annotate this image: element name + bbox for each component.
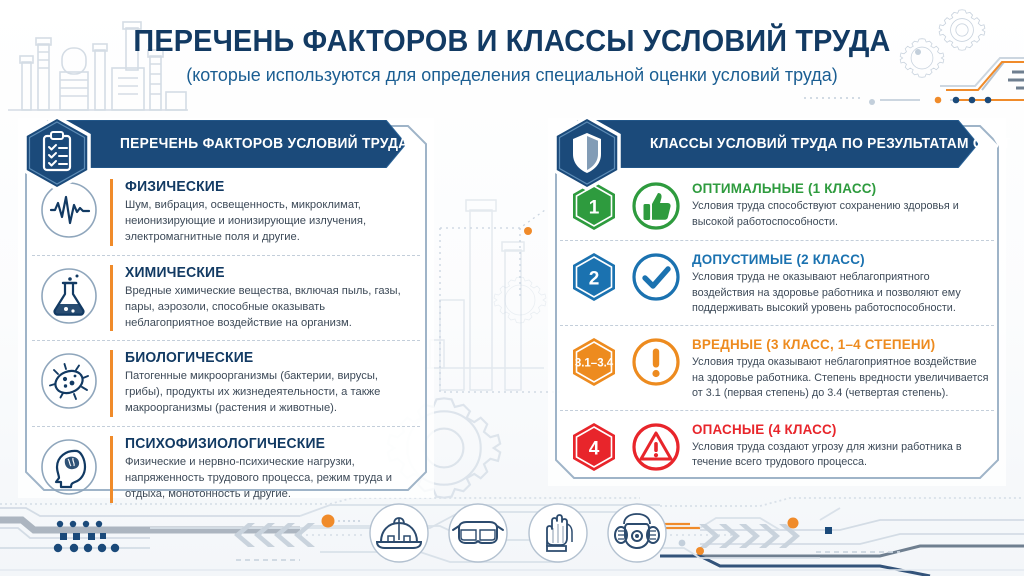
class-row-harmful[interactable]: 3.1–3.4 ВРЕДНЫЕ (3 КЛАСС, 1–4 СТЕПЕНИ) У… (560, 325, 994, 410)
head-brain-icon (40, 438, 98, 496)
bottom-left-dots-row (54, 521, 119, 552)
class-hexagon-3: 3.1–3.4 (568, 336, 620, 388)
class-title: ОПАСНЫЕ (4 КЛАСС) (692, 421, 978, 437)
factor-body: ХИМИЧЕСКИЕ Вредные химические вещества, … (110, 265, 416, 332)
flask-icon (40, 267, 98, 325)
class-body: ДОПУСТИМЫЕ (2 КЛАСС) Условия труда не ок… (692, 249, 990, 317)
class-body: ОПТИМАЛЬНЫЕ (1 КЛАСС) Условия труда спос… (692, 178, 990, 230)
class-description: Условия труда создают угрозу для жизни р… (692, 440, 990, 471)
orange-node-dot (524, 227, 532, 235)
small-gear-watermark (494, 277, 546, 323)
exclamation-circle-icon (630, 336, 682, 388)
protective-gloves-icon (527, 502, 589, 564)
factor-body: БИОЛОГИЧЕСКИЕ Патогенные микроорганизмы … (110, 350, 416, 417)
thumbs-up-icon (630, 180, 682, 232)
factor-description: Шум, вибрация, освещенность, микроклимат… (125, 198, 416, 246)
class-title: ДОПУСТИМЫЕ (2 КЛАСС) (692, 251, 978, 267)
factor-title: БИОЛОГИЧЕСКИЕ (125, 350, 404, 366)
bottom-circuit-right (660, 498, 1024, 576)
page-title-block: ПЕРЕЧЕНЬ ФАКТОРОВ И КЛАССЫ УСЛОВИЙ ТРУДА… (0, 24, 1024, 86)
factor-row-psychophysiological[interactable]: ПСИХОФИЗИОЛОГИЧЕСКИЕ Физические и нервно… (32, 426, 420, 512)
class-title: ОПТИМАЛЬНЫЕ (1 КЛАСС) (692, 180, 978, 196)
classes-panel: КЛАССЫ УСЛОВИЙ ТРУДА ПО РЕЗУЛЬТАТАМ СОУТ… (548, 118, 1006, 486)
classes-banner: КЛАССЫ УСЛОВИЙ ТРУДА ПО РЕЗУЛЬТАТАМ СОУТ (564, 120, 978, 168)
hard-hat-icon (368, 502, 430, 564)
class-hexagon-label: 2 (589, 269, 600, 290)
factors-panel: ПЕРЕЧЕНЬ ФАКТОРОВ УСЛОВИЙ ТРУДА ФИЗИЧЕСК… (18, 118, 434, 498)
classes-banner-label: КЛАССЫ УСЛОВИЙ ТРУДА ПО РЕЗУЛЬТАТАМ СОУТ (650, 120, 1011, 168)
classes-list: 1 ОПТИМАЛЬНЫЕ (1 КЛАСС) Условия труда сп… (548, 170, 1006, 481)
class-body: ОПАСНЫЕ (4 КЛАСС) Условия труда создают … (692, 419, 990, 471)
class-hexagon-label: 3.1–3.4 (575, 357, 614, 369)
factors-banner-label: ПЕРЕЧЕНЬ ФАКТОРОВ УСЛОВИЙ ТРУДА (120, 120, 408, 168)
class-hexagon-label: 1 (589, 198, 600, 219)
bottom-right-chevrons (699, 524, 800, 548)
factors-list: ФИЗИЧЕСКИЕ Шум, вибрация, освещенность, … (18, 170, 434, 512)
class-row-dangerous[interactable]: 4 ОПАСНЫЕ (4 КЛАСС) Условия труда создаю… (560, 410, 994, 481)
factor-row-chemical[interactable]: ХИМИЧЕСКИЕ Вредные химические вещества, … (32, 255, 420, 341)
factor-description: Вредные химические вещества, включая пыл… (125, 284, 416, 332)
page-title: ПЕРЕЧЕНЬ ФАКТОРОВ И КЛАССЫ УСЛОВИЙ ТРУДА (36, 24, 988, 57)
class-hexagon-label: 4 (589, 438, 600, 459)
bacteria-icon (40, 352, 98, 410)
class-hexagon-4: 4 (568, 421, 620, 473)
clipboard-checklist-icon (18, 114, 96, 192)
class-title: ВРЕДНЫЕ (3 КЛАСС, 1–4 СТЕПЕНИ) (692, 336, 978, 352)
check-circle-icon (630, 251, 682, 303)
class-body: ВРЕДНЫЕ (3 КЛАСС, 1–4 СТЕПЕНИ) Условия т… (692, 334, 990, 402)
factor-description: Патогенные микроорганизмы (бактерии, вир… (125, 369, 416, 417)
dotted-trace-decoration (440, 210, 560, 392)
factor-title: ПСИХОФИЗИОЛОГИЧЕСКИЕ (125, 436, 404, 452)
respirator-mask-icon (606, 502, 668, 564)
class-description: Условия труда не оказывают неблагоприятн… (692, 270, 990, 317)
warning-triangle-icon (630, 421, 682, 473)
safety-goggles-icon (447, 502, 509, 564)
factor-row-biological[interactable]: БИОЛОГИЧЕСКИЕ Патогенные микроорганизмы … (32, 340, 420, 426)
factory-gear-watermark (424, 200, 544, 390)
factor-body: ПСИХОФИЗИОЛОГИЧЕСКИЕ Физические и нервно… (110, 436, 416, 503)
page-subtitle: (которые используются для определения сп… (15, 64, 1008, 86)
bottom-left-orange-node (322, 515, 335, 528)
infographic-canvas: ПЕРЕЧЕНЬ ФАКТОРОВ И КЛАССЫ УСЛОВИЙ ТРУДА… (0, 0, 1024, 576)
factor-description: Физические и нервно-психические нагрузки… (125, 455, 416, 503)
class-description: Условия труда оказывают неблагоприятное … (692, 355, 990, 402)
shield-icon (548, 114, 626, 192)
factor-title: ХИМИЧЕСКИЕ (125, 265, 404, 281)
factor-body: ФИЗИЧЕСКИЕ Шум, вибрация, освещенность, … (110, 179, 416, 246)
class-hexagon-2: 2 (568, 251, 620, 303)
class-description: Условия труда способствуют сохранению зд… (692, 199, 990, 230)
bottom-left-chevrons (234, 523, 315, 547)
ppe-icon-strip (368, 500, 668, 566)
factor-title: ФИЗИЧЕСКИЕ (125, 179, 404, 195)
class-row-permissible[interactable]: 2 ДОПУСТИМЫЕ (2 КЛАСС) Условия труда не … (560, 240, 994, 325)
